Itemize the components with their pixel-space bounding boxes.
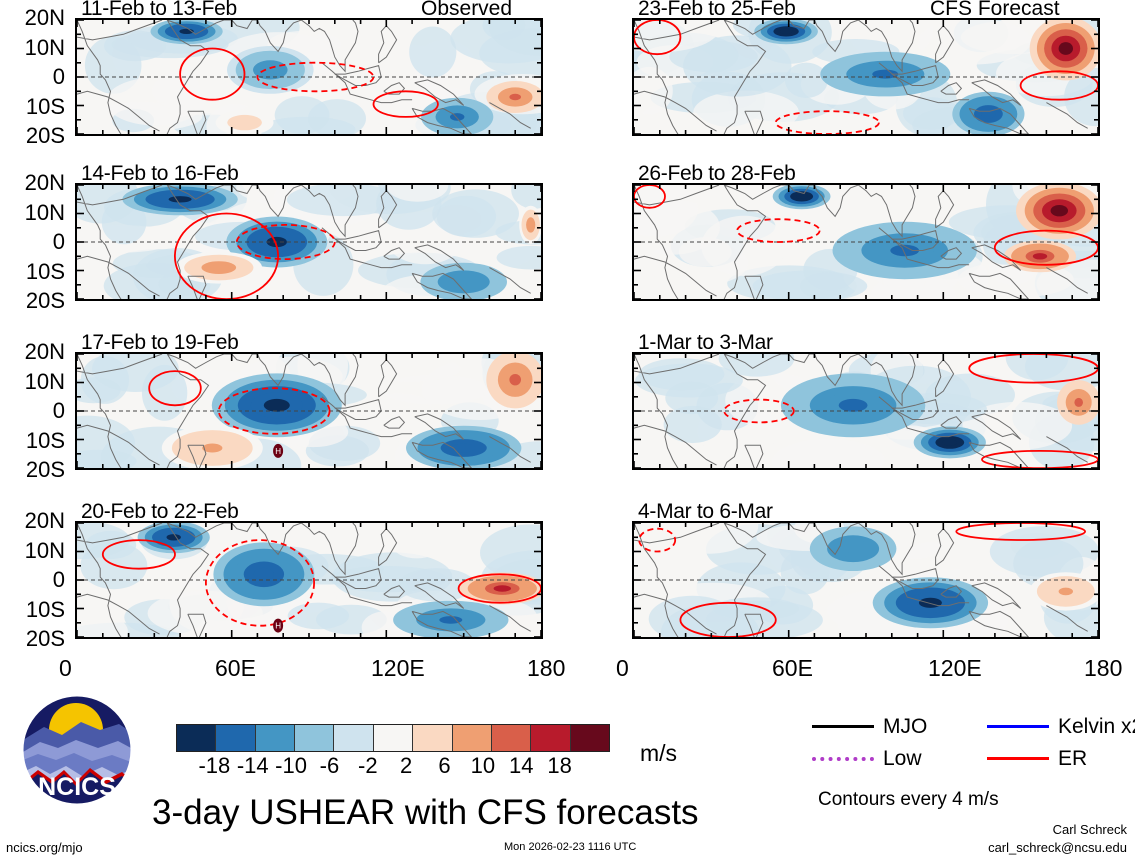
column-header-left: Observed — [421, 0, 512, 19]
colorbar-swatch-3 — [295, 725, 334, 751]
map-panel-1[interactable] — [75, 18, 543, 136]
colorbar-swatch-2 — [256, 725, 295, 751]
panel-title-4: 20-Feb to 22-Feb — [81, 501, 238, 522]
y-tick-label-0: 0 — [0, 400, 65, 422]
map-field-2 — [77, 185, 541, 299]
x-tick-label-120E: 120E — [928, 657, 982, 680]
y-tick-label-20N: 20N — [0, 341, 65, 363]
y-tick-label-20S: 20S — [0, 628, 65, 650]
y-tick-label-20N: 20N — [0, 510, 65, 532]
colorbar-tick-10: 10 — [471, 755, 495, 777]
map-field-7 — [634, 354, 1098, 468]
x-tick-label-180: 180 — [527, 657, 565, 680]
x-tick-label-0: 0 — [616, 657, 629, 680]
y-tick-label-10N: 10N — [0, 540, 65, 562]
x-tick-label-180: 180 — [1084, 657, 1122, 680]
colorbar-swatch-7 — [453, 725, 492, 751]
map-field-1 — [77, 20, 541, 134]
kelvin-line-swatch — [987, 725, 1049, 728]
legend-item-low: Low — [812, 748, 922, 769]
colorbar-swatch-0 — [177, 725, 216, 751]
colorbar-tick-18: 18 — [547, 755, 571, 777]
colorbar-tick-14: 14 — [509, 755, 533, 777]
panel-title-6: 26-Feb to 28-Feb — [638, 163, 795, 184]
map-field-3: H — [77, 354, 541, 468]
map-panel-6[interactable] — [632, 183, 1100, 301]
ncics-logo-text: NCICS — [38, 773, 116, 801]
map-field-8 — [634, 523, 1098, 637]
legend-label-low: Low — [883, 748, 922, 769]
panel-title-8: 4-Mar to 6-Mar — [638, 501, 773, 522]
y-tick-label-20S: 20S — [0, 125, 65, 147]
y-tick-label-10N: 10N — [0, 371, 65, 393]
map-field-5 — [634, 20, 1098, 134]
wave-legend: MJO Kelvin x2 Low ER — [812, 716, 1132, 776]
colorbar-swatch-4 — [334, 725, 373, 751]
colorbar-tick--6: -6 — [320, 755, 340, 777]
column-header-right: CFS Forecast — [930, 0, 1060, 19]
y-tick-label-10S: 10S — [0, 261, 65, 283]
ncics-logo: NCICS — [18, 694, 136, 806]
er-line-swatch — [987, 757, 1049, 760]
y-tick-label-10N: 10N — [0, 202, 65, 224]
colorbar-swatch-1 — [216, 725, 255, 751]
y-tick-label-10S: 10S — [0, 430, 65, 452]
panel-title-1: 11-Feb to 13-Feb — [81, 0, 237, 19]
colorbar-tick-6: 6 — [438, 755, 450, 777]
map-panel-2[interactable] — [75, 183, 543, 301]
svg-text:H: H — [275, 622, 281, 631]
main-title: 3-day USHEAR with CFS forecasts — [152, 795, 699, 830]
colorbar-swatch-8 — [492, 725, 531, 751]
mjo-line-swatch — [812, 725, 874, 728]
x-tick-label-60E: 60E — [215, 657, 256, 680]
y-tick-label-10N: 10N — [0, 37, 65, 59]
footer-email[interactable]: carl_schreck@ncsu.edu — [988, 841, 1127, 854]
footer-author: Carl Schreck — [1053, 823, 1127, 836]
panel-title-7: 1-Mar to 3-Mar — [638, 332, 773, 353]
colorbar-unit-label: m/s — [640, 742, 677, 765]
colorbar-swatch-10 — [571, 725, 609, 751]
x-tick-label-60E: 60E — [772, 657, 813, 680]
y-tick-label-10S: 10S — [0, 96, 65, 118]
map-field-6 — [634, 185, 1098, 299]
map-panel-8[interactable] — [632, 521, 1100, 639]
panel-title-3: 17-Feb to 19-Feb — [81, 332, 238, 353]
panel-title-5: 23-Feb to 25-Feb — [638, 0, 795, 19]
y-tick-label-20N: 20N — [0, 172, 65, 194]
y-tick-label-10S: 10S — [0, 599, 65, 621]
map-panel-7[interactable] — [632, 352, 1100, 470]
legend-item-mjo: MJO — [812, 716, 927, 737]
x-tick-label-0: 0 — [59, 657, 72, 680]
legend-label-kelvin: Kelvin x2 — [1058, 716, 1135, 737]
svg-text:H: H — [275, 447, 281, 456]
colorbar-swatch-5 — [374, 725, 413, 751]
colorbar-swatch-9 — [531, 725, 570, 751]
y-tick-label-0: 0 — [0, 569, 65, 591]
x-tick-label-120E: 120E — [371, 657, 425, 680]
y-tick-label-0: 0 — [0, 66, 65, 88]
map-panel-5[interactable] — [632, 18, 1100, 136]
y-tick-label-20S: 20S — [0, 290, 65, 312]
footer-site-link[interactable]: ncics.org/mjo — [6, 841, 83, 854]
map-panel-4[interactable]: H — [75, 521, 543, 639]
colorbar-tick--14: -14 — [237, 755, 269, 777]
legend-label-er: ER — [1058, 748, 1087, 769]
colorbar-tick-2: 2 — [400, 755, 412, 777]
legend-item-er: ER — [987, 748, 1087, 769]
colorbar-tick--2: -2 — [358, 755, 378, 777]
legend-item-kelvin: Kelvin x2 — [987, 716, 1135, 737]
legend-label-mjo: MJO — [883, 716, 927, 737]
contour-interval-note: Contours every 4 m/s — [818, 790, 999, 809]
colorbar-tick--18: -18 — [198, 755, 230, 777]
figure-root: 11-Feb to 13-FebObserved 20N10N010S20S14… — [0, 0, 1135, 860]
map-panel-3[interactable]: H — [75, 352, 543, 470]
colorbar-tick--10: -10 — [275, 755, 307, 777]
footer-timestamp: Mon 2026-02-23 1116 UTC — [504, 842, 636, 853]
colorbar-swatch-6 — [413, 725, 452, 751]
y-tick-label-20N: 20N — [0, 7, 65, 29]
map-field-4: H — [77, 523, 541, 637]
panel-title-2: 14-Feb to 16-Feb — [81, 163, 238, 184]
y-tick-label-20S: 20S — [0, 459, 65, 481]
colorbar — [176, 724, 610, 752]
ncics-logo-icon: NCICS — [18, 694, 136, 806]
y-tick-label-0: 0 — [0, 231, 65, 253]
low-line-swatch — [812, 757, 874, 761]
